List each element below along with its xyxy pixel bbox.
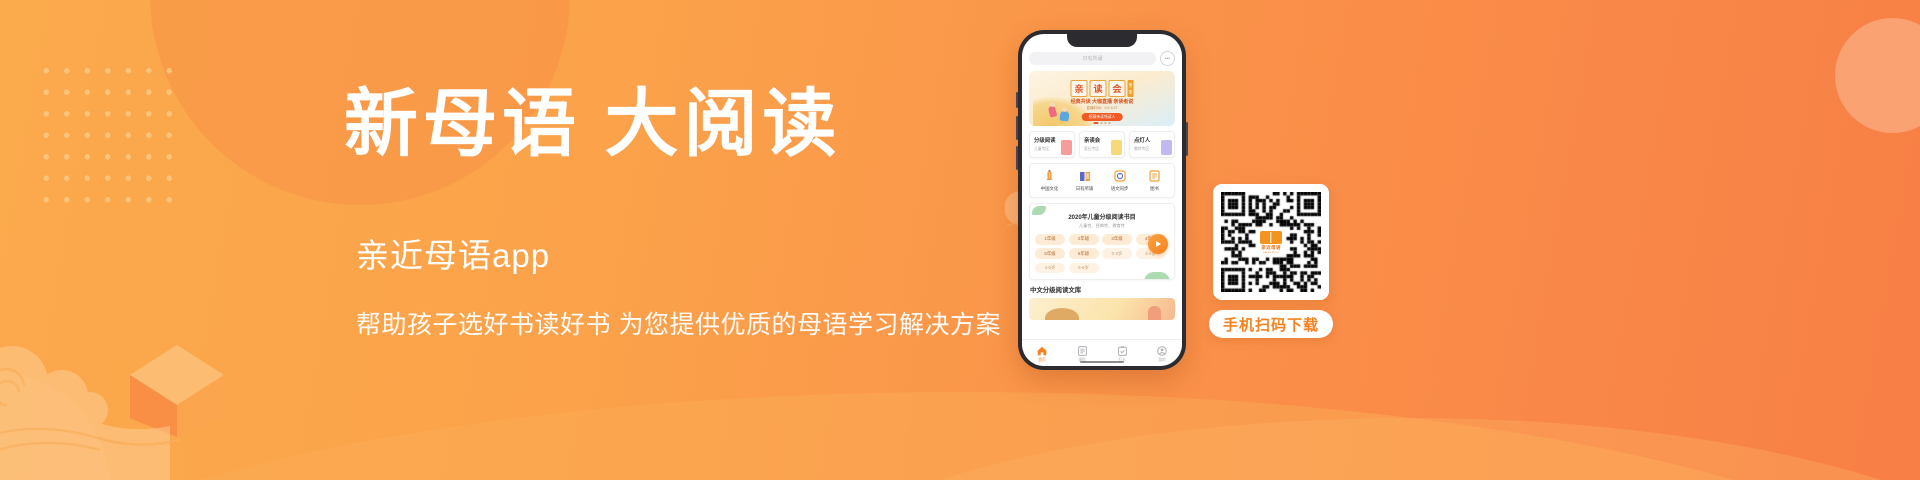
open-book-icon	[1078, 170, 1091, 183]
booklist-card: 2020年儿童分级阅读书目 儿童性、经典性、教育性 1年级 2年级 3年级 4年…	[1029, 203, 1175, 281]
booklist-title: 2020年儿童分级阅读书目	[1035, 212, 1169, 221]
hero-copy: 新母语 大阅读 亲近母语app 帮助孩子选好书读好书 为您提供优质的母语学习解决…	[344, 88, 1004, 341]
promo-card[interactable]: 亲 读 会 第二季 经典共读 大咖直播 亲读者说 直播时间：9.6-9.27 招…	[1029, 71, 1175, 126]
age-chip[interactable]: 4-5岁	[1035, 263, 1065, 274]
quick-link-label: 中国文化	[1041, 186, 1059, 192]
decor-isometric-cube	[130, 345, 225, 455]
grade-chip[interactable]: 6年级	[1069, 248, 1099, 259]
grade-chip[interactable]: 2年级	[1069, 234, 1099, 245]
hero-tagline: 帮助孩子选好书读好书 为您提供优质的母语学习解决方案	[356, 305, 1004, 341]
library-banner[interactable]	[1029, 298, 1175, 320]
quick-link-label: 图书	[1150, 186, 1159, 192]
page-title: 新母语 大阅读	[344, 88, 1004, 162]
quick-link-chinese-culture[interactable]: 中国文化	[1032, 170, 1067, 192]
tab-label: 我的	[1158, 358, 1166, 363]
age-chip[interactable]: 0-3岁	[1102, 248, 1132, 259]
library-section-title: 中文分级阅读文库	[1030, 285, 1175, 294]
qr-code[interactable]: 亲近母语 QINJIN MUYU	[1221, 192, 1321, 292]
decor-dot-grid	[36, 60, 176, 210]
tab-profile[interactable]: 我的	[1142, 346, 1182, 363]
phone-screen: 日有所诵 ••• 亲 读 会 第二季 经典共读 大咖直播 亲读者	[1022, 34, 1182, 366]
entry-cards: 分级阅读 儿童专区 亲读会 家长专区 点灯人 教师专区	[1029, 131, 1175, 158]
tab-label: 首页	[1038, 358, 1046, 363]
promo-char-1: 亲	[1071, 80, 1088, 97]
quick-link-books[interactable]: 图书	[1137, 170, 1172, 192]
promo-subtitle: 经典共读 大咖直播 亲读者说	[1071, 98, 1134, 105]
book-logo-icon	[1260, 231, 1282, 244]
home-indicator	[1080, 361, 1124, 363]
entry-card-graded-reading[interactable]: 分级阅读 儿童专区	[1029, 131, 1075, 158]
phone-volume-up-button	[1016, 116, 1018, 140]
decor-circle-top-right	[1835, 18, 1920, 133]
leaf-decor-icon	[1144, 272, 1170, 280]
quick-link-textbook-sync[interactable]: 语文同步	[1102, 170, 1137, 192]
promo-title: 亲 读 会 第二季	[1071, 80, 1134, 97]
grade-chip[interactable]: 3年级	[1102, 234, 1132, 245]
decor-auspicious-cloud-left	[0, 330, 180, 480]
entry-card-reading-club[interactable]: 亲读会 家长专区	[1079, 131, 1125, 158]
qr-logo-pinyin: QINJIN MUYU	[1263, 251, 1279, 254]
tab-checkin[interactable]: 打卡	[1102, 346, 1142, 363]
grade-chip[interactable]: 1年级	[1035, 234, 1065, 245]
hero-subtitle: 亲近母语app	[356, 229, 1004, 277]
promo-cta-button[interactable]: 招募亲读领读人	[1082, 113, 1123, 121]
carousel-indicator[interactable]	[1094, 122, 1111, 124]
booklist-subtitle: 儿童性、经典性、教育性	[1035, 223, 1169, 229]
book-icon	[1061, 140, 1072, 155]
book-icon	[1111, 140, 1122, 155]
quick-links: 中国文化 日有所诵 语文同步	[1029, 163, 1175, 198]
user-icon	[1157, 346, 1167, 356]
qr-code-panel: 亲近母语 QINJIN MUYU	[1213, 184, 1329, 300]
app-search-row: 日有所诵 •••	[1029, 51, 1175, 66]
grade-chip[interactable]: 5年级	[1035, 248, 1065, 259]
app-content: 日有所诵 ••• 亲 读 会 第二季 经典共读 大咖直播 亲读者	[1022, 34, 1182, 320]
book-icon	[1161, 140, 1172, 155]
search-input[interactable]: 日有所诵	[1029, 52, 1156, 65]
promo-char-3: 会	[1109, 80, 1126, 97]
sync-icon	[1113, 170, 1126, 183]
quick-link-label: 语文同步	[1111, 186, 1129, 192]
message-icon[interactable]: •••	[1160, 51, 1175, 66]
book-icon	[1148, 170, 1161, 183]
video-play-icon[interactable]	[1148, 234, 1168, 254]
quick-link-daily-recitation[interactable]: 日有所诵	[1067, 170, 1102, 192]
quick-link-label: 日有所诵	[1076, 186, 1094, 192]
checklist-icon	[1117, 346, 1127, 356]
phone-volume-down-button	[1016, 146, 1018, 170]
tab-home[interactable]: 首页	[1022, 346, 1062, 363]
lantern-icon	[1043, 170, 1056, 183]
promo-banner: 新母语 大阅读 亲近母语app 帮助孩子选好书读好书 为您提供优质的母语学习解决…	[0, 0, 1920, 480]
age-chip[interactable]: 5-6岁	[1069, 263, 1099, 274]
promo-season-tag: 第二季	[1128, 80, 1134, 97]
tab-courses[interactable]: 课程	[1062, 346, 1102, 363]
promo-date: 直播时间：9.6-9.27	[1086, 106, 1117, 111]
promo-char-2: 读	[1090, 80, 1107, 97]
phone-mute-switch	[1016, 92, 1018, 108]
home-icon	[1037, 346, 1047, 356]
phone-mockup: 日有所诵 ••• 亲 读 会 第二季 经典共读 大咖直播 亲读者	[1018, 30, 1186, 370]
list-icon	[1077, 346, 1087, 356]
qr-center-logo: 亲近母语 QINJIN MUYU	[1257, 228, 1285, 256]
phone-notch	[1067, 34, 1137, 47]
qr-logo-name: 亲近母语	[1261, 245, 1281, 251]
library-banner-arch	[1045, 308, 1079, 320]
decor-circle-bottom-left	[0, 372, 110, 480]
library-banner-figure	[1148, 306, 1161, 320]
decor-hill-back	[0, 392, 1920, 480]
decor-hill-front	[760, 418, 1920, 480]
download-button[interactable]: 手机扫码下载	[1209, 310, 1333, 338]
phone-power-button	[1186, 122, 1188, 156]
entry-card-lamplighter[interactable]: 点灯人 教师专区	[1129, 131, 1175, 158]
